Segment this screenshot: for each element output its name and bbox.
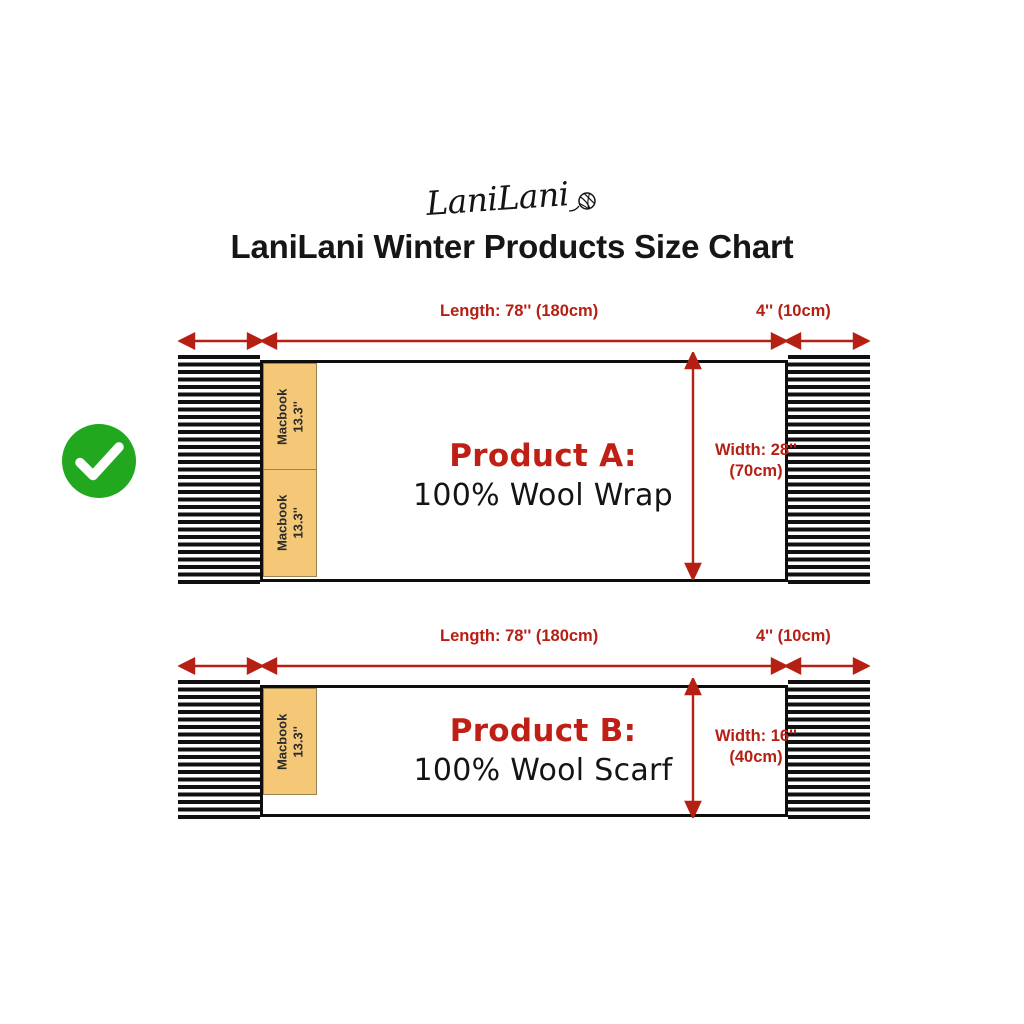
fringe-length-label: 4'' (10cm) xyxy=(756,627,831,646)
wrap-body-panel xyxy=(260,360,788,582)
size-chart-canvas: LaniLani LaniLani Winter Products Size C… xyxy=(0,0,1024,1024)
macbook-box-label: Macbook 13.3'' xyxy=(274,495,306,551)
yarn-ball-icon xyxy=(568,189,598,220)
length-label: Length: 78'' (180cm) xyxy=(440,302,598,321)
fringe-left xyxy=(178,355,260,587)
macbook-reference-box: Macbook 13.3'' xyxy=(263,470,317,577)
product-b-dimension-labels: Length: 78'' (180cm) 4'' (10cm) xyxy=(178,627,870,651)
scarf-body-panel xyxy=(260,685,788,817)
product-a-reference-boxes: Macbook 13.3'' Macbook 13.3'' xyxy=(263,363,317,577)
fringe-right xyxy=(788,355,870,587)
product-b-width-arrow xyxy=(682,678,704,823)
macbook-box-label: Macbook 13.3'' xyxy=(274,388,306,444)
product-b-width-label: Width: 16'' (40cm) xyxy=(715,726,797,768)
brand-logo: LaniLani xyxy=(0,168,1024,224)
product-b-dimension-arrows xyxy=(178,655,870,677)
green-check-icon xyxy=(57,419,141,503)
product-a-dimension-labels: Length: 78'' (180cm) 4'' (10cm) xyxy=(178,302,870,326)
macbook-reference-box: Macbook 13.3'' xyxy=(263,363,317,470)
macbook-box-label: Macbook 13.3'' xyxy=(274,713,306,769)
brand-logo-text: LaniLani xyxy=(424,174,569,223)
macbook-reference-box: Macbook 13.3'' xyxy=(263,688,317,795)
product-b-reference-boxes: Macbook 13.3'' xyxy=(263,688,317,795)
fringe-right xyxy=(788,680,870,822)
length-label: Length: 78'' (180cm) xyxy=(440,627,598,646)
fringe-left xyxy=(178,680,260,822)
product-a-width-arrow xyxy=(682,352,704,585)
page-title: LaniLani Winter Products Size Chart xyxy=(0,228,1024,266)
fringe-length-label: 4'' (10cm) xyxy=(756,302,831,321)
product-a-width-label: Width: 28'' (70cm) xyxy=(715,440,797,482)
product-a-dimension-arrows xyxy=(178,330,870,352)
